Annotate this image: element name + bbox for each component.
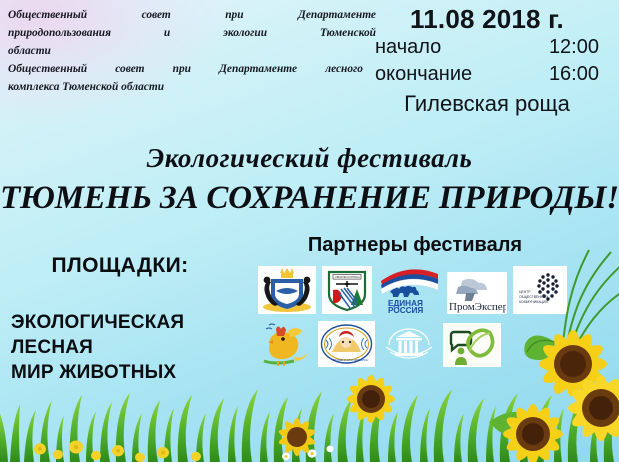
event-date: 11.08 2018 г.: [373, 4, 601, 34]
promexpert-logo-icon: ПромЭксперт: [447, 272, 507, 314]
organizers-text: Общественный совет при Департаменте прир…: [8, 6, 378, 96]
grass-decoration: [0, 376, 619, 462]
organizers-word: экологии: [223, 24, 267, 42]
venues-heading: ПЛОЩАДКИ:: [0, 254, 240, 278]
partner-logos: АВИАЛЕСООХРАНА: [258, 264, 558, 374]
organizers-word: Департаменте: [298, 6, 376, 24]
classical-building-emblem-icon: [381, 323, 437, 367]
organizers-line-4: Общественный совет при Департаменте лесн…: [8, 60, 363, 78]
event-start-time: 12:00: [549, 34, 599, 61]
event-start-label: начало: [375, 34, 441, 61]
svg-text:ЦЕНТР: ЦЕНТР: [519, 290, 531, 294]
organizers-line-2: природопользования и экологии Тюменской: [8, 24, 376, 42]
event-end-time: 16:00: [549, 61, 599, 88]
organizers-word: совет: [115, 60, 144, 78]
organizers-word: лесного: [325, 60, 363, 78]
daisy-flowers: [282, 441, 334, 461]
organizers-line-1: Общественный совет при Департаменте: [8, 6, 376, 24]
event-start-row: начало 12:00: [373, 34, 601, 61]
avialesookhrana-emblem-icon: АВИАЛЕСООХРАНА: [322, 266, 372, 314]
venue-item: ЭКОЛОГИЧЕСКАЯ: [11, 310, 246, 335]
organizers-word: при: [173, 60, 191, 78]
sunflower-cluster-decoration: [477, 362, 619, 462]
poster-canvas: Общественный совет при Департаменте прир…: [0, 0, 619, 462]
svg-text:ПромЭксперт: ПромЭксперт: [449, 301, 506, 313]
svg-text:ТЮМЕНСКАЯ ЯРМАРКА: ТЮМЕНСКАЯ ЯРМАРКА: [333, 358, 368, 362]
organizers-word: Тюменской: [320, 24, 376, 42]
organizers-word: совет: [142, 6, 171, 24]
oval-face-emblem-icon: ТЮМЕНСКАЯ ЯРМАРКА: [318, 321, 375, 367]
organizers-line-3: области: [8, 42, 378, 60]
public-communications-center-logo-icon: ЦЕНТР ОБЩЕСТВЕННЫХ КОММУНИКАЦИЙ: [513, 266, 567, 314]
festival-subtitle: Экологический фестиваль: [0, 143, 619, 174]
venue-item: ЛЕСНАЯ: [11, 335, 246, 360]
organizers-word: и: [164, 24, 170, 42]
svg-text:КОММУНИКАЦИЙ: КОММУНИКАЦИЙ: [519, 300, 548, 304]
event-end-row: окончание 16:00: [373, 61, 601, 88]
venue-item: МИР ЖИВОТНЫХ: [11, 360, 246, 385]
organizers-word: Департаменте: [219, 60, 297, 78]
organizers-line-5: комплекса Тюменской области: [8, 78, 378, 96]
event-place: Гилевская роща: [373, 89, 601, 119]
svg-text:АВИАЛЕСООХРАНА: АВИАЛЕСООХРАНА: [335, 275, 360, 279]
partner-logo-row-1: АВИАЛЕСООХРАНА: [258, 264, 558, 314]
venues-list: ЭКОЛОГИЧЕСКАЯ ЛЕСНАЯ МИР ЖИВОТНЫХ: [11, 310, 246, 385]
svg-text:ОБЩЕСТВЕННЫХ: ОБЩЕСТВЕННЫХ: [519, 295, 549, 299]
green-leaf-logo-icon: [443, 323, 501, 367]
tyumen-oblast-coat-of-arms-icon: [258, 266, 316, 314]
sunflower-left-decoration: [266, 406, 328, 462]
organizers-word: при: [225, 6, 243, 24]
festival-title: ТЮМЕНЬ ЗА СОХРАНЕНИЕ ПРИРОДЫ!: [0, 180, 619, 217]
svg-text:РОССИЯ: РОССИЯ: [388, 306, 423, 314]
event-details: 11.08 2018 г. начало 12:00 окончание 16:…: [373, 4, 601, 119]
organizers-word: Общественный: [8, 60, 87, 78]
small-flowers-left: [34, 441, 201, 462]
partners-heading: Партнеры фестиваля: [250, 234, 580, 257]
partner-logo-row-2: ТЮМЕНСКАЯ ЯРМАРКА: [260, 321, 558, 367]
organizers-word: Общественный: [8, 6, 87, 24]
event-end-label: окончание: [375, 61, 472, 88]
organizers-word: природопользования: [8, 24, 111, 42]
hen-mascot-logo-icon: [260, 321, 312, 367]
united-russia-logo-icon: ЕДИНАЯ РОССИЯ: [378, 264, 441, 314]
